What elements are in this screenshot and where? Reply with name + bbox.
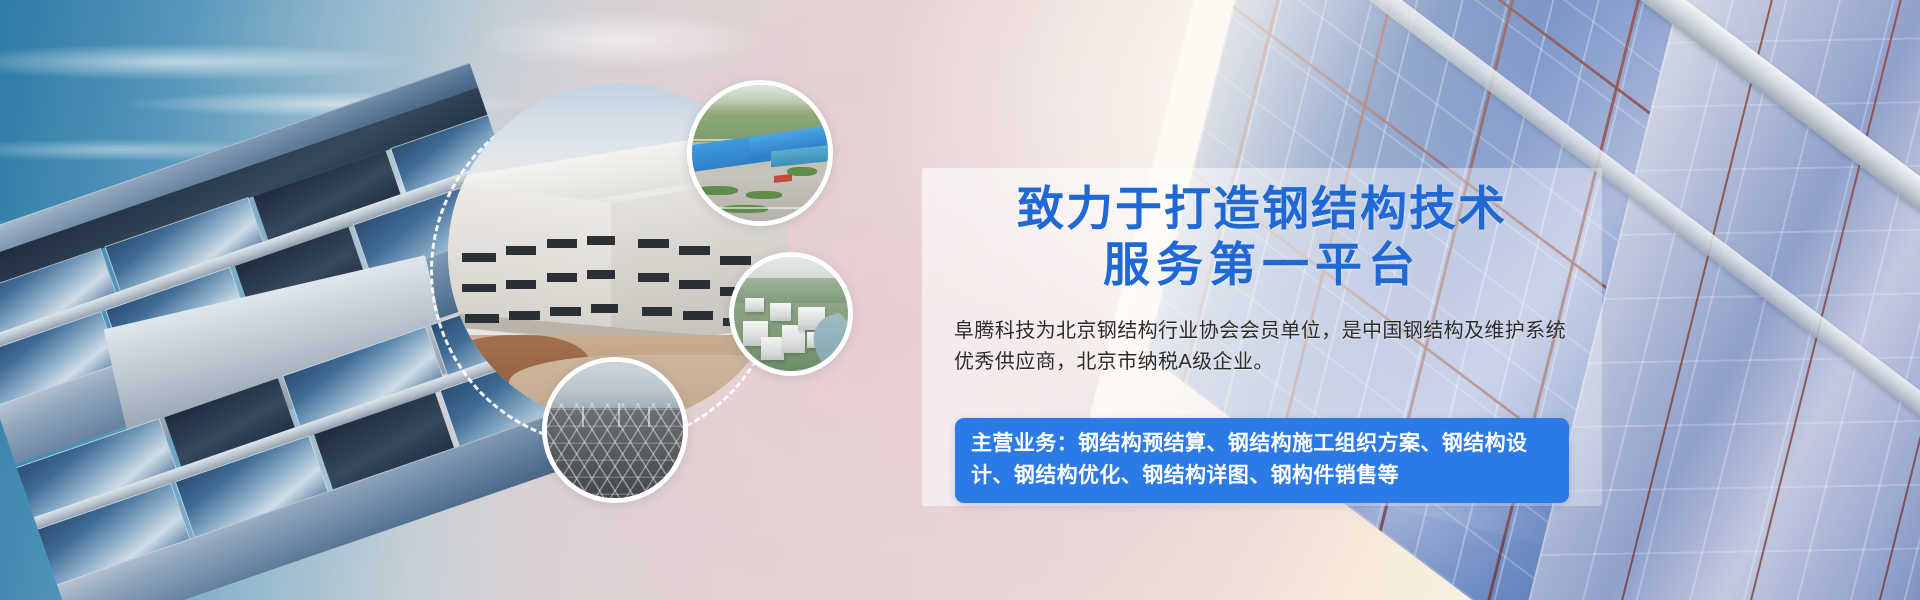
headline-line-1: 致力于打造钢结构技术 [1017,182,1507,237]
company-description: 阜腾科技为北京钢结构行业协会会员单位，是中国钢结构及维护系统优秀供应商，北京市纳… [954,316,1582,378]
office-campus-photo-circle [729,252,853,376]
headline-line-2: 服务第一平台 [922,238,1602,294]
text-panel: 致力于打造钢结构技术 服务第一平台 阜腾科技为北京钢结构行业协会会员单位，是中国… [922,168,1602,506]
steel-truss-photo-circle [542,357,688,503]
photo-circle-cluster [430,55,880,515]
hero-banner: 致力于打造钢结构技术 服务第一平台 阜腾科技为北京钢结构行业协会会员单位，是中国… [0,0,1920,600]
factory-aerial-photo-circle [687,80,833,226]
page-title: 致力于打造钢结构技术 服务第一平台 [922,182,1602,294]
business-scope-badge: 主营业务：钢结构预结算、钢结构施工组织方案、钢结构设计、钢结构优化、钢结构详图、… [955,418,1569,503]
